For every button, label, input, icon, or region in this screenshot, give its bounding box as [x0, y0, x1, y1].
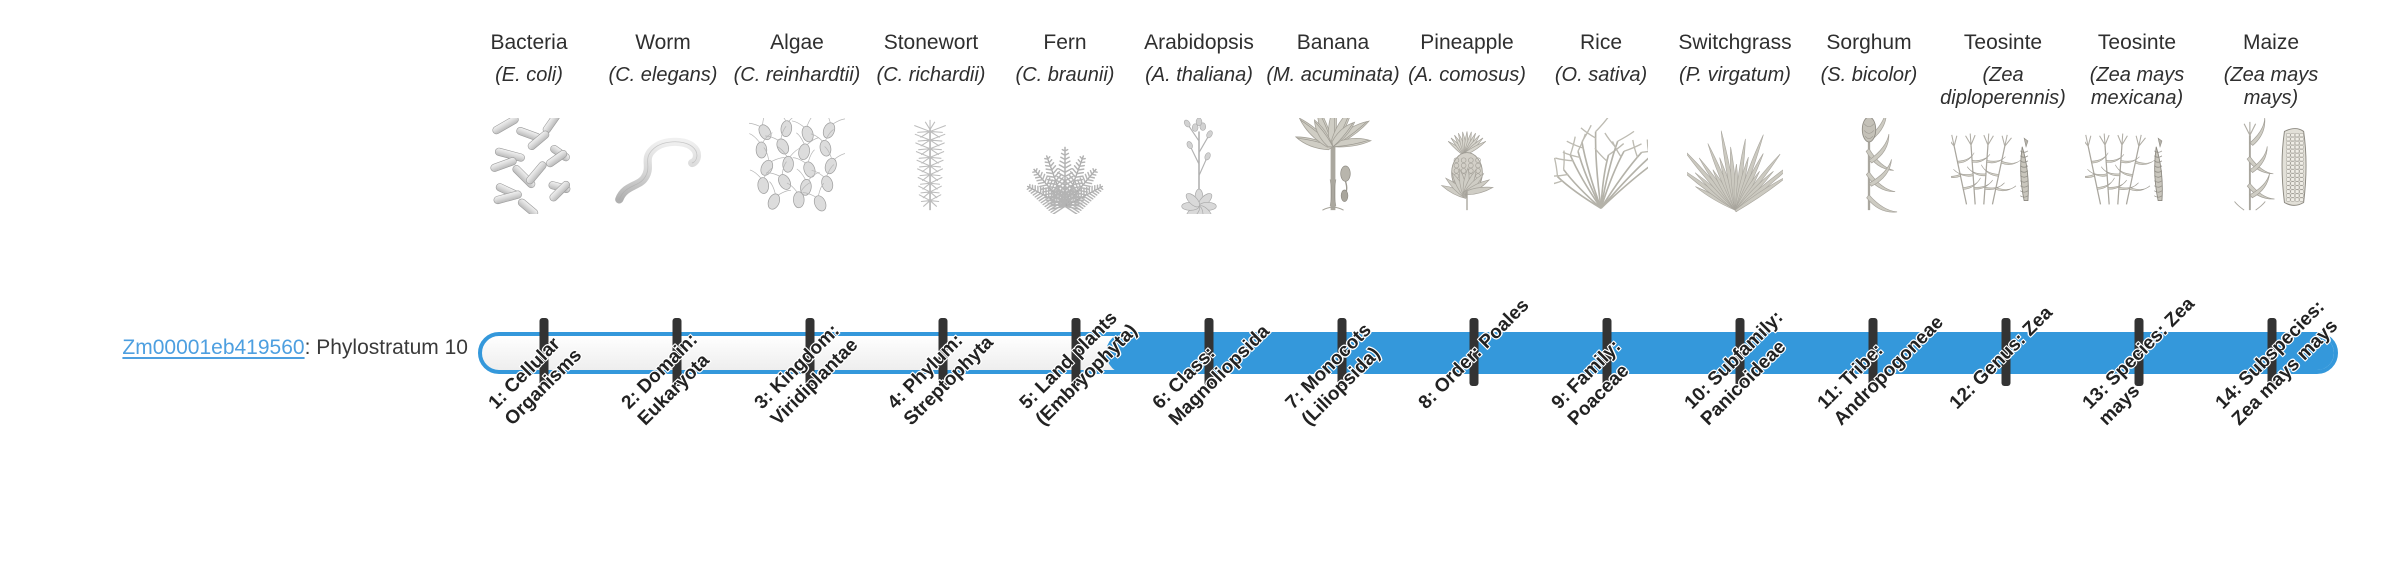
- maize-illustration-icon: [2205, 118, 2337, 214]
- bar-track: [478, 332, 2338, 374]
- species-common-name: Arabidopsis: [1144, 30, 1254, 58]
- rank-slot: 7: Monocots (Liliopsida): [1275, 392, 1408, 580]
- gene-id-link[interactable]: Zm00001eb419560: [122, 336, 304, 359]
- species-columns: Bacteria(E. coli): [462, 30, 2338, 310]
- species-column: Stonewort(C. richardii): [864, 30, 998, 214]
- arabidopsis-illustration-icon: [1133, 118, 1265, 214]
- species-scientific-name: (E. coli): [462, 64, 596, 114]
- species-column: Sorghum(S. bicolor): [1802, 30, 1936, 214]
- rice-illustration-icon: [1535, 118, 1667, 214]
- rank-slot: 5: Land plants (Embryophyta): [1009, 392, 1142, 580]
- species-common-name: Teosinte: [1964, 30, 2042, 58]
- rank-slot: 3: Kingdom: Viridiplantae: [744, 392, 877, 580]
- species-scientific-name: (C. braunii): [998, 64, 1132, 114]
- rank-slot: 4: Phylum: Streptophyta: [877, 392, 1010, 580]
- rank-slot: 13: Species: Zea mays: [2072, 392, 2205, 580]
- species-common-name: Maize: [2243, 30, 2299, 58]
- sorghum-illustration-icon: [1803, 118, 1935, 214]
- species-common-name: Worm: [635, 30, 691, 58]
- species-scientific-name: (A. thaliana): [1132, 64, 1266, 114]
- banana-illustration-icon: [1267, 118, 1399, 214]
- gene-caption: Zm00001eb419560: Phylostratum 10: [0, 336, 468, 360]
- species-column: Fern(C. braunii): [998, 30, 1132, 214]
- species-common-name: Algae: [770, 30, 824, 58]
- species-scientific-name: (Zea mays mays): [2204, 64, 2338, 114]
- rank-slot: 10: Subfamily: Panicoideae: [1674, 392, 1807, 580]
- species-common-name: Teosinte: [2098, 30, 2176, 58]
- switchgrass-illustration-icon: [1669, 118, 1801, 214]
- teosinte-illustration-icon: [1937, 118, 2069, 214]
- rank-slot: 8: Order: Poales: [1408, 392, 1541, 580]
- rank-slot: 1: Cellular Organisms: [478, 392, 611, 580]
- phylostratum-figure: Zm00001eb419560: Phylostratum 10 Bacteri…: [0, 0, 2400, 580]
- species-common-name: Switchgrass: [1678, 30, 1791, 58]
- species-column: Banana(M. acuminata): [1266, 30, 1400, 214]
- species-column: Switchgrass(P. virgatum): [1668, 30, 1802, 214]
- worm-illustration-icon: [597, 118, 729, 214]
- species-common-name: Stonewort: [884, 30, 979, 58]
- rank-slot: 2: Domain: Eukaryota: [611, 392, 744, 580]
- gene-caption-separator: :: [305, 336, 317, 359]
- species-scientific-name: (M. acuminata): [1266, 64, 1400, 114]
- species-scientific-name: (Zea mays mexicana): [2070, 64, 2204, 114]
- species-column: Rice(O. sativa): [1534, 30, 1668, 214]
- species-scientific-name: (C. richardii): [864, 64, 998, 114]
- species-column: Worm(C. elegans): [596, 30, 730, 214]
- rank-slot: 14: Subspecies: Zea mays mays: [2205, 392, 2338, 580]
- species-column: Teosinte(Zea mays mexicana): [2070, 30, 2204, 214]
- species-common-name: Sorghum: [1826, 30, 1911, 58]
- stonewort-illustration-icon: [865, 118, 997, 214]
- species-common-name: Rice: [1580, 30, 1622, 58]
- species-column: Algae(C. reinhardtii): [730, 30, 864, 214]
- bacteria-illustration-icon: [463, 118, 595, 214]
- rank-slot: 12: Genus: Zea: [1939, 392, 2072, 580]
- species-column: Pineapple(A. comosus): [1400, 30, 1534, 214]
- species-common-name: Fern: [1043, 30, 1086, 58]
- fern-illustration-icon: [999, 118, 1131, 214]
- species-scientific-name: (Zea diploperennis): [1936, 64, 2070, 114]
- species-scientific-name: (P. virgatum): [1668, 64, 1802, 114]
- species-common-name: Bacteria: [490, 30, 567, 58]
- species-scientific-name: (C. reinhardtii): [730, 64, 864, 114]
- rank-labels: 1: Cellular Organisms2: Domain: Eukaryot…: [478, 392, 2338, 580]
- species-scientific-name: (A. comosus): [1400, 64, 1534, 114]
- species-common-name: Banana: [1297, 30, 1369, 58]
- rank-slot: 9: Family: Poaceae: [1541, 392, 1674, 580]
- species-common-name: Pineapple: [1420, 30, 1513, 58]
- algae-illustration-icon: [731, 118, 863, 214]
- species-column: Maize(Zea mays mays): [2204, 30, 2338, 214]
- species-column: Bacteria(E. coli): [462, 30, 596, 214]
- species-scientific-name: (O. sativa): [1534, 64, 1668, 114]
- species-column: Teosinte(Zea diploperennis): [1936, 30, 2070, 214]
- species-column: Arabidopsis(A. thaliana): [1132, 30, 1266, 214]
- species-scientific-name: (S. bicolor): [1802, 64, 1936, 114]
- teosinte-illustration-icon: [2071, 118, 2203, 214]
- phylostratum-value: Phylostratum 10: [316, 336, 468, 359]
- species-scientific-name: (C. elegans): [596, 64, 730, 114]
- rank-slot: 11: Tribe: Andropogoneae: [1807, 392, 1940, 580]
- pineapple-illustration-icon: [1401, 118, 1533, 214]
- rank-slot: 6: Class: Magnoliopsida: [1142, 392, 1275, 580]
